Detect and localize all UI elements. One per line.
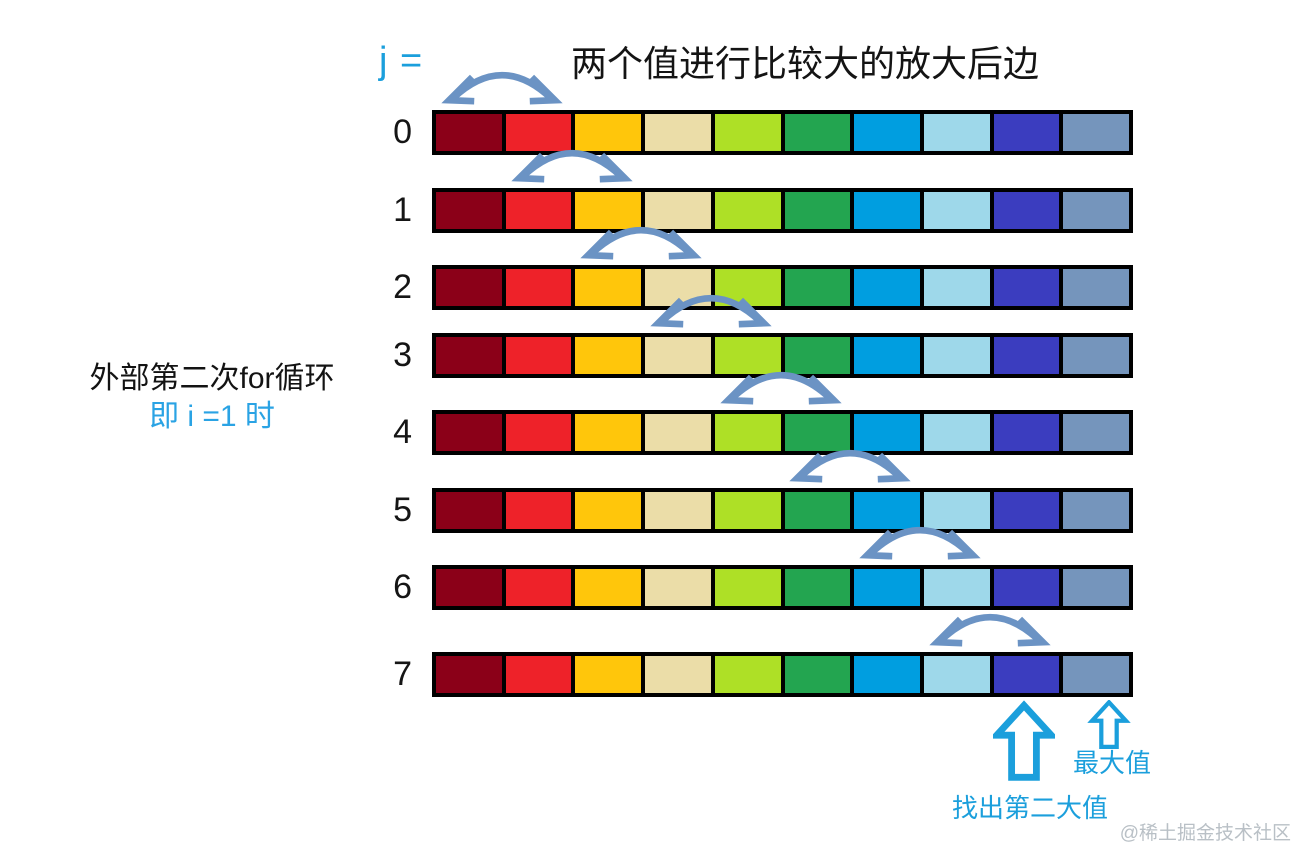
cell-gold [575,192,641,229]
cell-blue [854,192,920,229]
cell-green [785,492,851,529]
diagram-title: 两个值进行比较大的放大后边 [571,44,1039,84]
cell-indigo [994,269,1060,306]
up-arrow-icon [993,700,1055,784]
cell-lime [715,656,781,693]
cell-slate [1063,192,1129,229]
cell-red [506,492,572,529]
cell-blue [854,569,920,606]
cell-light-blue [924,114,990,151]
cell-green [785,114,851,151]
outer-loop-note: 外部第二次for循环 即 i =1 时 [62,360,362,437]
cell-dark-red [436,192,502,229]
row-index-2: 2 [372,270,412,304]
cell-blue [854,414,920,451]
row-index-5: 5 [372,493,412,527]
cell-lime [715,492,781,529]
array-row [432,265,1133,310]
cell-gold [575,492,641,529]
cell-indigo [994,414,1060,451]
cell-beige [645,656,711,693]
cell-lime [715,269,781,306]
cell-green [785,414,851,451]
cell-slate [1063,492,1129,529]
array-row [432,333,1133,378]
cell-light-blue [924,269,990,306]
cell-gold [575,414,641,451]
cell-beige [645,337,711,374]
row-index-0: 0 [372,115,412,149]
cell-blue [854,656,920,693]
cell-gold [575,656,641,693]
cell-red [506,569,572,606]
cell-beige [645,414,711,451]
cell-dark-red [436,414,502,451]
cell-slate [1063,269,1129,306]
cell-dark-red [436,269,502,306]
cell-red [506,656,572,693]
cell-slate [1063,337,1129,374]
cell-blue [854,492,920,529]
array-row [432,565,1133,610]
cell-beige [645,114,711,151]
cell-light-blue [924,414,990,451]
array-row [432,110,1133,155]
cell-red [506,269,572,306]
cell-beige [645,492,711,529]
cell-green [785,269,851,306]
swap-arc [437,54,567,106]
cell-red [506,337,572,374]
cell-gold [575,569,641,606]
cell-lime [715,114,781,151]
cell-slate [1063,114,1129,151]
cell-indigo [994,656,1060,693]
diagram-canvas: j = 两个值进行比较大的放大后边 外部第二次for循环 即 i =1 时 01… [0,0,1303,859]
cell-indigo [994,337,1060,374]
array-row [432,652,1133,697]
cell-indigo [994,569,1060,606]
cell-gold [575,337,641,374]
cell-red [506,414,572,451]
outer-loop-note-line2: 即 i =1 时 [62,398,362,436]
row-index-3: 3 [372,338,412,372]
cell-beige [645,269,711,306]
cell-lime [715,337,781,374]
cell-lime [715,192,781,229]
outer-loop-note-line1: 外部第二次for循环 [62,360,362,398]
cell-gold [575,269,641,306]
cell-slate [1063,569,1129,606]
row-index-1: 1 [372,193,412,227]
callout-label-largest: 最大值 [1073,750,1151,776]
cell-dark-red [436,656,502,693]
cell-light-blue [924,337,990,374]
callout-label-second-largest: 找出第二大值 [952,795,1108,821]
cell-dark-red [436,492,502,529]
row-index-7: 7 [372,657,412,691]
up-arrow-icon [1085,700,1133,750]
cell-beige [645,192,711,229]
cell-red [506,114,572,151]
row-index-6: 6 [372,570,412,604]
j-index-label: j = [379,42,423,80]
cell-slate [1063,656,1129,693]
cell-gold [575,114,641,151]
cell-indigo [994,114,1060,151]
cell-lime [715,569,781,606]
cell-dark-red [436,337,502,374]
array-row [432,410,1133,455]
cell-dark-red [436,114,502,151]
cell-slate [1063,414,1129,451]
cell-dark-red [436,569,502,606]
row-index-4: 4 [372,415,412,449]
cell-green [785,569,851,606]
cell-light-blue [924,656,990,693]
cell-red [506,192,572,229]
cell-green [785,192,851,229]
cell-light-blue [924,492,990,529]
array-row [432,188,1133,233]
cell-blue [854,269,920,306]
watermark: @稀土掘金技术社区 [1120,818,1291,845]
cell-blue [854,114,920,151]
cell-indigo [994,492,1060,529]
cell-light-blue [924,192,990,229]
cell-beige [645,569,711,606]
cell-lime [715,414,781,451]
cell-blue [854,337,920,374]
cell-green [785,337,851,374]
cell-green [785,656,851,693]
cell-light-blue [924,569,990,606]
cell-indigo [994,192,1060,229]
array-row [432,488,1133,533]
